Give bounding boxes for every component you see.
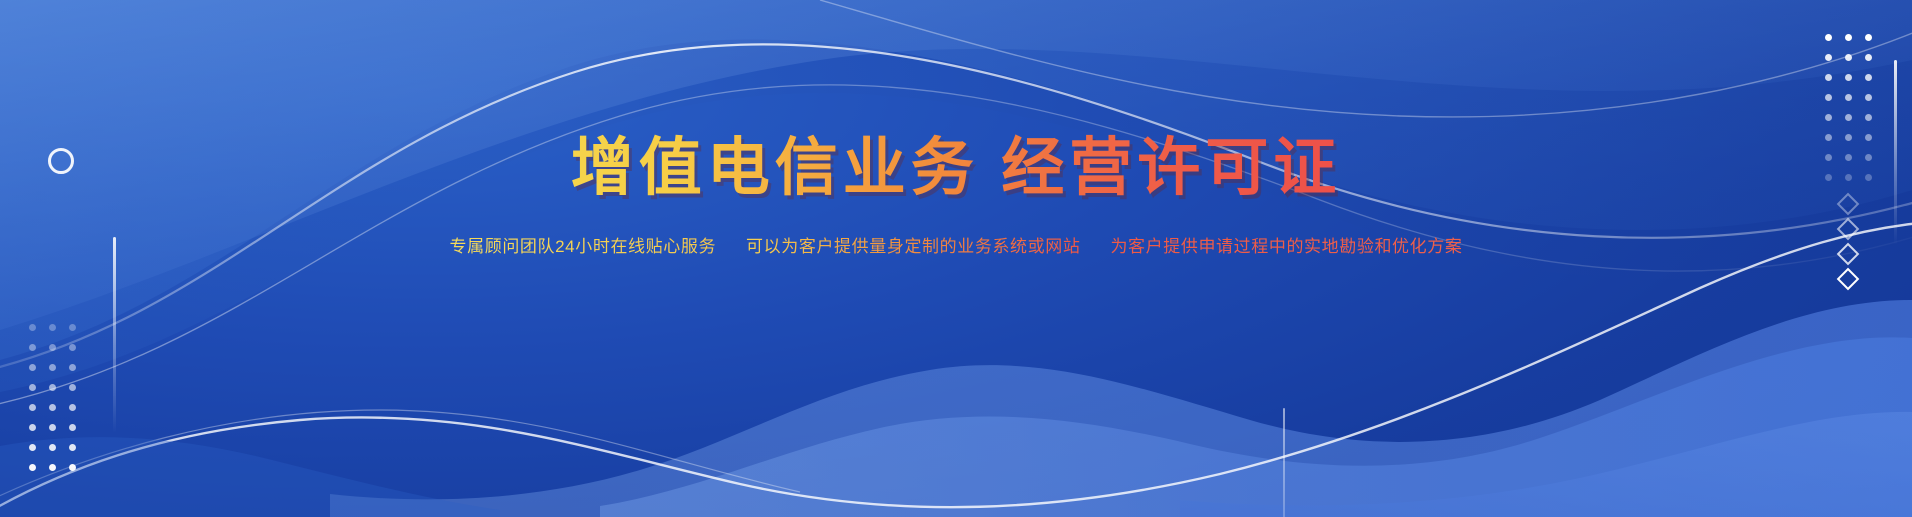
subtitle-segment-3: 为客户提供申请过程中的实地勘验和优化方案 xyxy=(1110,232,1462,257)
page-title: 增值电信业务 经营许可证 xyxy=(571,133,1342,204)
banner-subtitle: 专属顾问团队24小时在线贴心服务 可以为客户提供量身定制的业务系统或网站 为客户… xyxy=(450,232,1463,257)
banner-content: 增值电信业务 经营许可证 专属顾问团队24小时在线贴心服务 可以为客户提供量身定… xyxy=(0,0,1912,517)
subtitle-segment-2: 可以为客户提供量身定制的业务系统或网站 xyxy=(746,232,1080,257)
subtitle-segment-1: 专属顾问团队24小时在线贴心服务 xyxy=(450,232,717,257)
promo-banner: 增值电信业务 经营许可证 专属顾问团队24小时在线贴心服务 可以为客户提供量身定… xyxy=(0,0,1912,517)
